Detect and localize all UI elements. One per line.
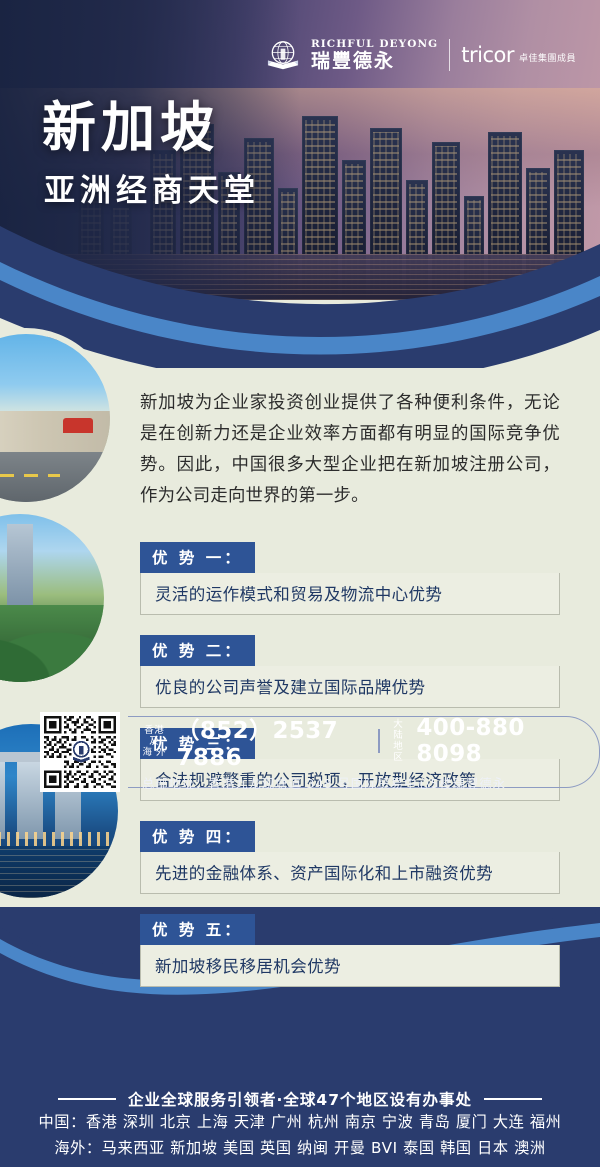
contact-details: 香港及 海 外 （852）2537 7886 大陆 地区 400-880 809… — [128, 716, 600, 788]
green-city-photo — [0, 508, 110, 688]
cn-phone-number[interactable]: 400-880 8098 — [416, 715, 565, 767]
brand-chinese-name: 瑞豐德永 — [311, 52, 438, 71]
hk-phone-tag: 香港及 海 外 — [142, 725, 166, 758]
cn-tag-line2: 地区 — [390, 741, 406, 763]
content-area: 新加坡为企业家投资创业提供了各种便利条件，无论是在创新力还是企业效率方面都有明显… — [140, 388, 560, 1007]
qr-code-icon[interactable] — [40, 712, 120, 792]
brand-english-name: RICHFUL DEYONG — [311, 39, 438, 50]
advantage-label: 优 势 四： — [140, 821, 255, 852]
slogan-rule-right — [484, 1098, 542, 1100]
china-offices-line: 中国：香港 深圳 北京 上海 天津 广州 杭州 南京 宁波 青岛 厦门 大连 福… — [0, 1109, 600, 1135]
tricor-block: tricor 卓佳集團成員 — [461, 43, 576, 67]
advantage-label: 优 势 一： — [140, 542, 255, 573]
advantage-label: 优 势 五： — [140, 914, 255, 945]
page-subtitle: 亚洲经商天堂 — [44, 165, 260, 210]
cn-tag-line1: 大陆 — [390, 719, 406, 741]
poster-root: RICHFUL DEYONG 瑞豐德永 tricor 卓佳集團成員 新加坡 亚洲… — [0, 0, 600, 1167]
hk-tag-line2: 海 外 — [142, 747, 166, 758]
brand-divider — [449, 39, 450, 71]
slogan-text: 企业全球服务引领者·全球47个地区设有办事处 — [128, 1088, 472, 1110]
shophouse-street-photo — [0, 328, 116, 508]
phone-row: 香港及 海 外 （852）2537 7886 大陆 地区 400-880 809… — [142, 711, 565, 771]
advantage-text: 优良的公司声誉及建立国际品牌优势 — [140, 666, 560, 708]
tricor-subtitle: 卓佳集團成員 — [519, 51, 576, 67]
page-title: 新加坡 — [42, 83, 219, 162]
advantage-text: 先进的金融体系、资产国际化和上市融资优势 — [140, 852, 560, 894]
list-item: 优 势 四： 先进的金融体系、资产国际化和上市融资优势 — [140, 821, 560, 894]
advantage-label: 优 势 二： — [140, 635, 255, 666]
intro-paragraph: 新加坡为企业家投资创业提供了各种便利条件，无论是在创新力还是企业效率方面都有明显… — [140, 388, 560, 512]
advantage-text: 新加坡移民移居机会优势 — [140, 945, 560, 987]
hk-tag-line1: 香港及 — [142, 725, 166, 747]
list-item: 优 势 二： 优良的公司声誉及建立国际品牌优势 — [140, 635, 560, 708]
address-line: 总部地址：香港九龙观塘道 348 号国际贸易中心5楼瑞豐德永 — [142, 774, 565, 792]
cn-phone-tag: 大陆 地区 — [390, 719, 406, 763]
slogan-rule-left — [58, 1098, 116, 1100]
brand-logo-lockup: RICHFUL DEYONG 瑞豐德永 tricor 卓佳集團成員 — [264, 36, 576, 74]
phone-divider — [378, 729, 380, 753]
office-regions: 中国：香港 深圳 北京 上海 天津 广州 杭州 南京 宁波 青岛 厦门 大连 福… — [0, 1109, 600, 1161]
contact-block: 香港及 海 外 （852）2537 7886 大陆 地区 400-880 809… — [40, 712, 600, 792]
crest-emblem-icon — [264, 36, 302, 74]
slogan-area: 企业全球服务引领者·全球47个地区设有办事处 — [0, 1085, 600, 1110]
company-slogan: 企业全球服务引领者·全球47个地区设有办事处 — [58, 1088, 542, 1110]
brand-name-block: RICHFUL DEYONG 瑞豐德永 — [311, 39, 438, 72]
hk-phone-number[interactable]: （852）2537 7886 — [176, 711, 368, 771]
list-item: 优 势 五： 新加坡移民移居机会优势 — [140, 914, 560, 987]
advantage-text: 灵活的运作模式和贸易及物流中心优势 — [140, 573, 560, 615]
overseas-offices-line: 海外：马来西亚 新加坡 美国 英国 纳闽 开曼 BVI 泰国 韩国 日本 澳洲 — [0, 1135, 600, 1161]
list-item: 优 势 一： 灵活的运作模式和贸易及物流中心优势 — [140, 542, 560, 615]
tricor-wordmark: tricor — [461, 43, 514, 67]
